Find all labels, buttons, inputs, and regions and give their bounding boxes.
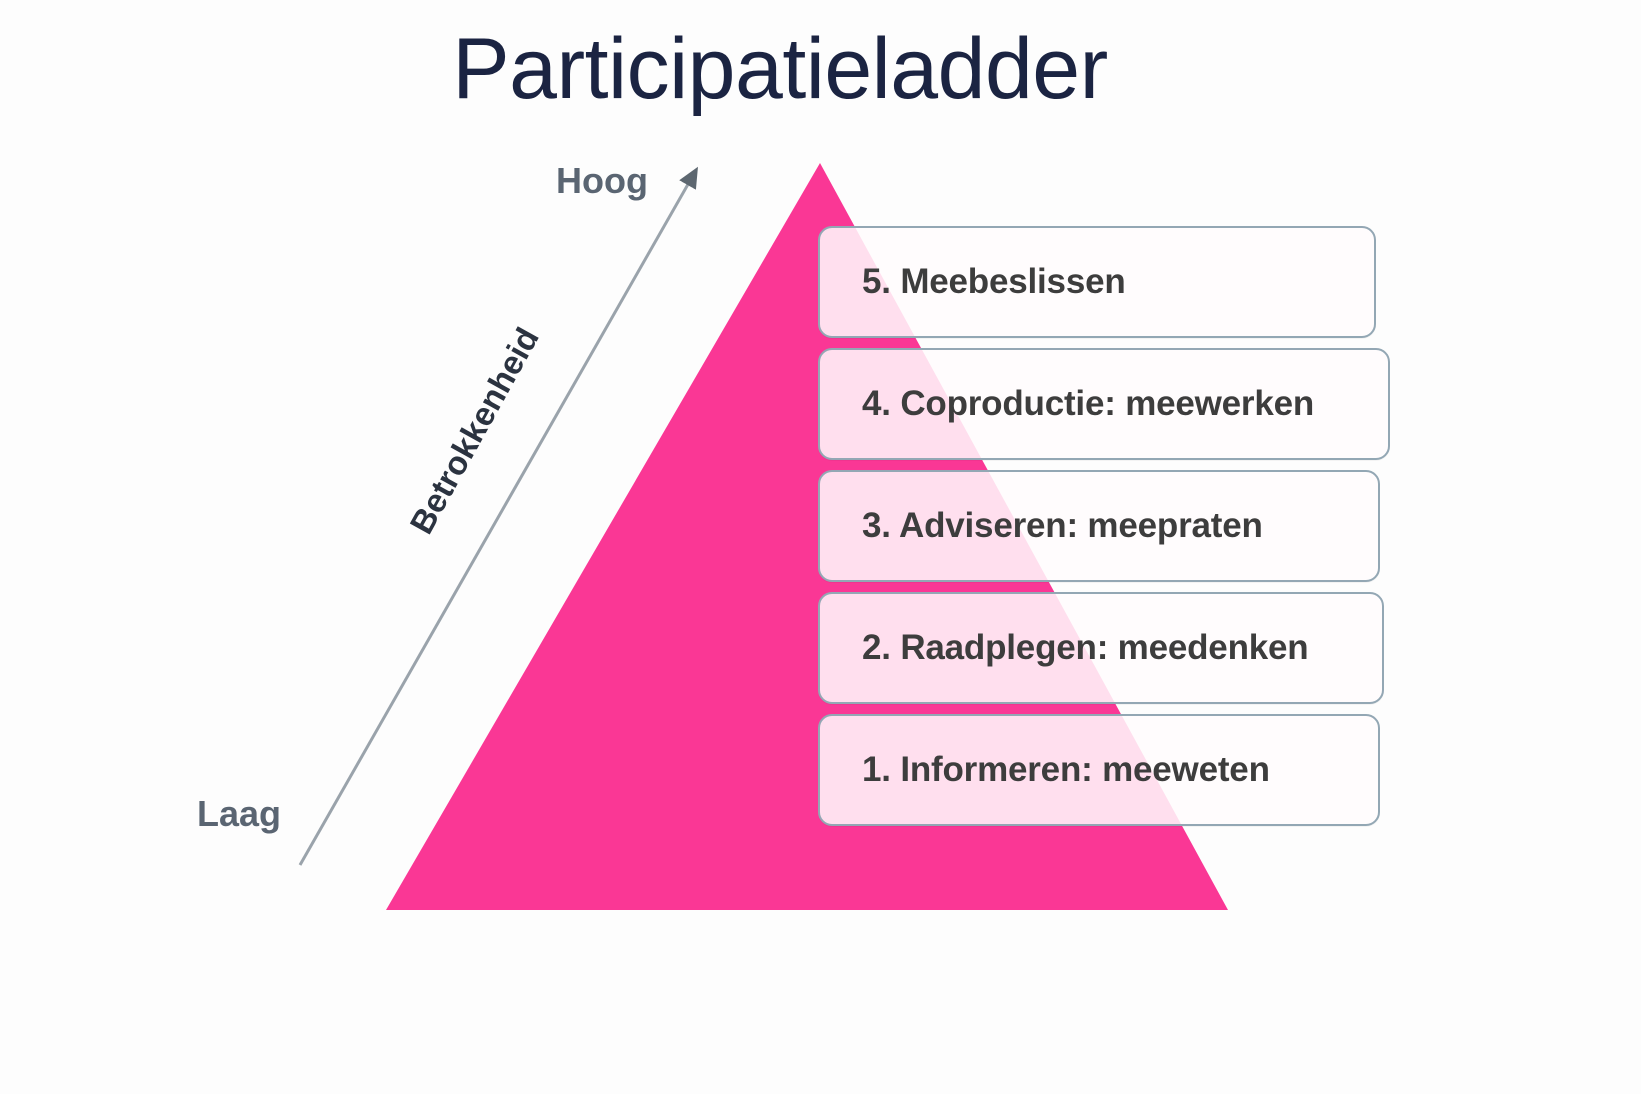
axis-label-low: Laag [197, 793, 281, 835]
ladder-step-label: 1. Informeren: meeweten [820, 750, 1270, 790]
ladder-step-2[interactable]: 2. Raadplegen: meedenken [818, 592, 1384, 704]
ladder-step-label: 4. Coproductie: meewerken [820, 384, 1314, 424]
participation-ladder-diagram: Participatieladder Hoog Laag Betrokkenhe… [0, 0, 1641, 1094]
ladder-step-3[interactable]: 3. Adviseren: meepraten [818, 470, 1380, 582]
ladder-step-label: 3. Adviseren: meepraten [820, 506, 1263, 546]
ladder-step-5[interactable]: 5. Meebeslissen [818, 226, 1376, 338]
axis-label-high: Hoog [556, 160, 648, 202]
ladder-step-4[interactable]: 4. Coproductie: meewerken [818, 348, 1390, 460]
axis-line [300, 172, 695, 865]
ladder-step-label: 2. Raadplegen: meedenken [820, 628, 1308, 668]
ladder-step-1[interactable]: 1. Informeren: meeweten [818, 714, 1380, 826]
ladder-step-label: 5. Meebeslissen [820, 262, 1126, 302]
